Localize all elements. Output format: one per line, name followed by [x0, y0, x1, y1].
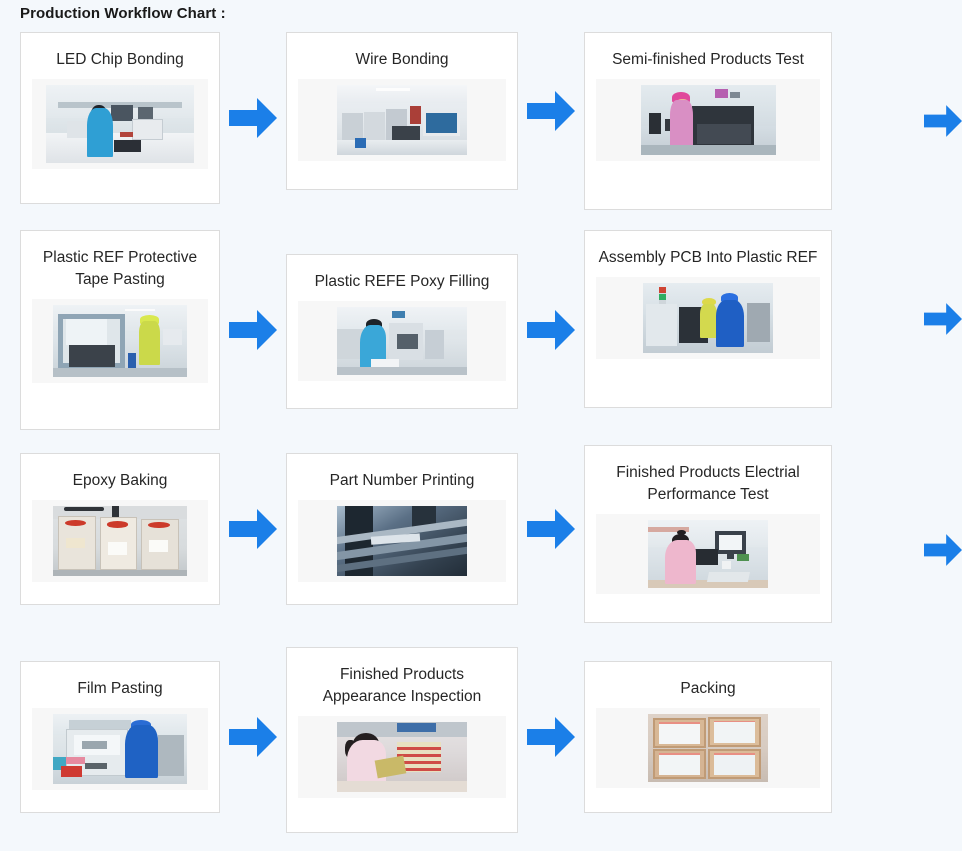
step-title: Part Number Printing — [320, 464, 485, 500]
step-photo-band — [32, 708, 208, 790]
workflow-step-card[interactable]: Part Number Printing — [286, 453, 518, 605]
right-arrow-icon — [527, 308, 575, 352]
workflow-cell: Part Number Printing — [286, 453, 518, 605]
right-arrow-icon — [924, 528, 962, 572]
step-title: Packing — [670, 672, 745, 708]
step-photo-band — [596, 708, 820, 788]
led-chip-bonding-photo — [46, 85, 194, 163]
right-arrow-icon — [229, 308, 277, 352]
workflow-cell: Film Pasting — [20, 661, 220, 813]
plastic-ref-protective-tape-pasting-photo — [53, 305, 187, 377]
right-arrow-icon — [229, 96, 277, 140]
arrow-slot — [220, 453, 286, 605]
step-photo-band — [32, 79, 208, 169]
arrow-slot — [518, 661, 584, 813]
step-title: Finished Products Appearance Inspection — [287, 658, 517, 716]
step-title: Plastic REFE Poxy Filling — [305, 265, 500, 301]
packing-photo — [648, 714, 768, 782]
step-photo-band — [596, 79, 820, 161]
workflow-cell: LED Chip Bonding — [20, 32, 220, 204]
step-photo-band — [32, 500, 208, 582]
step-title: Epoxy Baking — [63, 464, 178, 500]
step-title: Plastic REF Protective Tape Pasting — [21, 241, 219, 299]
arrow-slot-wrap — [910, 230, 962, 408]
workflow-row: Film Pasting — [0, 661, 962, 851]
workflow-step-card[interactable]: Packing — [584, 661, 832, 813]
right-arrow-icon — [527, 715, 575, 759]
plastic-refe-poxy-filling-photo — [337, 307, 467, 375]
part-number-printing-photo — [337, 506, 467, 576]
step-photo-band — [298, 79, 506, 161]
step-title: Finished Products Electrial Performance … — [585, 456, 831, 514]
arrow-slot-wrap — [910, 32, 962, 210]
workflow-cell: Semi-finished Products Test — [584, 32, 832, 210]
workflow-cell: Epoxy Baking — [20, 453, 220, 605]
workflow-step-card[interactable]: Finished Products Electrial Performance … — [584, 445, 832, 623]
workflow-step-card[interactable]: Semi-finished Products Test — [584, 32, 832, 210]
workflow-cell: Plastic REFE Poxy Filling — [286, 254, 518, 409]
arrow-slot — [518, 230, 584, 430]
step-title: LED Chip Bonding — [46, 43, 194, 79]
workflow-cell: Finished Products Electrial Performance … — [584, 445, 832, 623]
workflow-row: Epoxy Baking — [0, 453, 962, 643]
step-photo-band — [298, 301, 506, 381]
arrow-slot — [518, 453, 584, 605]
arrow-slot — [518, 32, 584, 190]
workflow-step-card[interactable]: LED Chip Bonding — [20, 32, 220, 204]
workflow-row: LED Chip Bonding — [0, 32, 962, 214]
step-photo-band — [596, 277, 820, 359]
workflow-cell: Finished Products Appearance Inspection — [286, 647, 518, 833]
right-arrow-icon — [924, 99, 962, 143]
step-title: Semi-finished Products Test — [602, 43, 814, 79]
film-pasting-photo — [53, 714, 187, 784]
right-arrow-icon — [527, 89, 575, 133]
step-title: Wire Bonding — [345, 43, 458, 79]
arrow-slot-wrap — [910, 461, 962, 639]
right-arrow-icon — [229, 715, 277, 759]
workflow-step-card[interactable]: Finished Products Appearance Inspection — [286, 647, 518, 833]
right-arrow-icon — [229, 507, 277, 551]
finished-products-appearance-inspection-photo — [337, 722, 467, 792]
step-photo-band — [298, 716, 506, 798]
workflow-row: Plastic REF Protective Tape Pasting — [0, 230, 962, 433]
page-title: Production Workflow Chart : — [20, 5, 226, 22]
arrow-slot — [220, 661, 286, 813]
arrow-slot — [220, 32, 286, 204]
workflow-cell: Assembly PCB Into Plastic REF — [584, 230, 832, 408]
wire-bonding-photo — [337, 85, 467, 155]
arrow-slot — [220, 230, 286, 430]
workflow-cell: Wire Bonding — [286, 32, 518, 190]
workflow-cell: Plastic REF Protective Tape Pasting — [20, 230, 220, 430]
workflow-step-card[interactable]: Film Pasting — [20, 661, 220, 813]
step-photo-band — [298, 500, 506, 582]
workflow-step-card[interactable]: Epoxy Baking — [20, 453, 220, 605]
workflow-cell: Packing — [584, 661, 832, 813]
step-photo-band — [32, 299, 208, 383]
semi-finished-products-test-photo — [641, 85, 776, 155]
step-photo-band — [596, 514, 820, 594]
assembly-pcb-into-plastic-ref-photo — [643, 283, 773, 353]
workflow-step-card[interactable]: Plastic REF Protective Tape Pasting — [20, 230, 220, 430]
finished-products-electrial-performance-test-photo — [648, 520, 768, 588]
workflow-step-card[interactable]: Plastic REFE Poxy Filling — [286, 254, 518, 409]
right-arrow-icon — [527, 507, 575, 551]
epoxy-baking-photo — [53, 506, 187, 576]
right-arrow-icon — [924, 297, 962, 341]
step-title: Film Pasting — [67, 672, 172, 708]
step-title: Assembly PCB Into Plastic REF — [589, 241, 828, 277]
workflow-grid: LED Chip Bonding — [0, 32, 962, 851]
workflow-step-card[interactable]: Wire Bonding — [286, 32, 518, 190]
workflow-step-card[interactable]: Assembly PCB Into Plastic REF — [584, 230, 832, 408]
